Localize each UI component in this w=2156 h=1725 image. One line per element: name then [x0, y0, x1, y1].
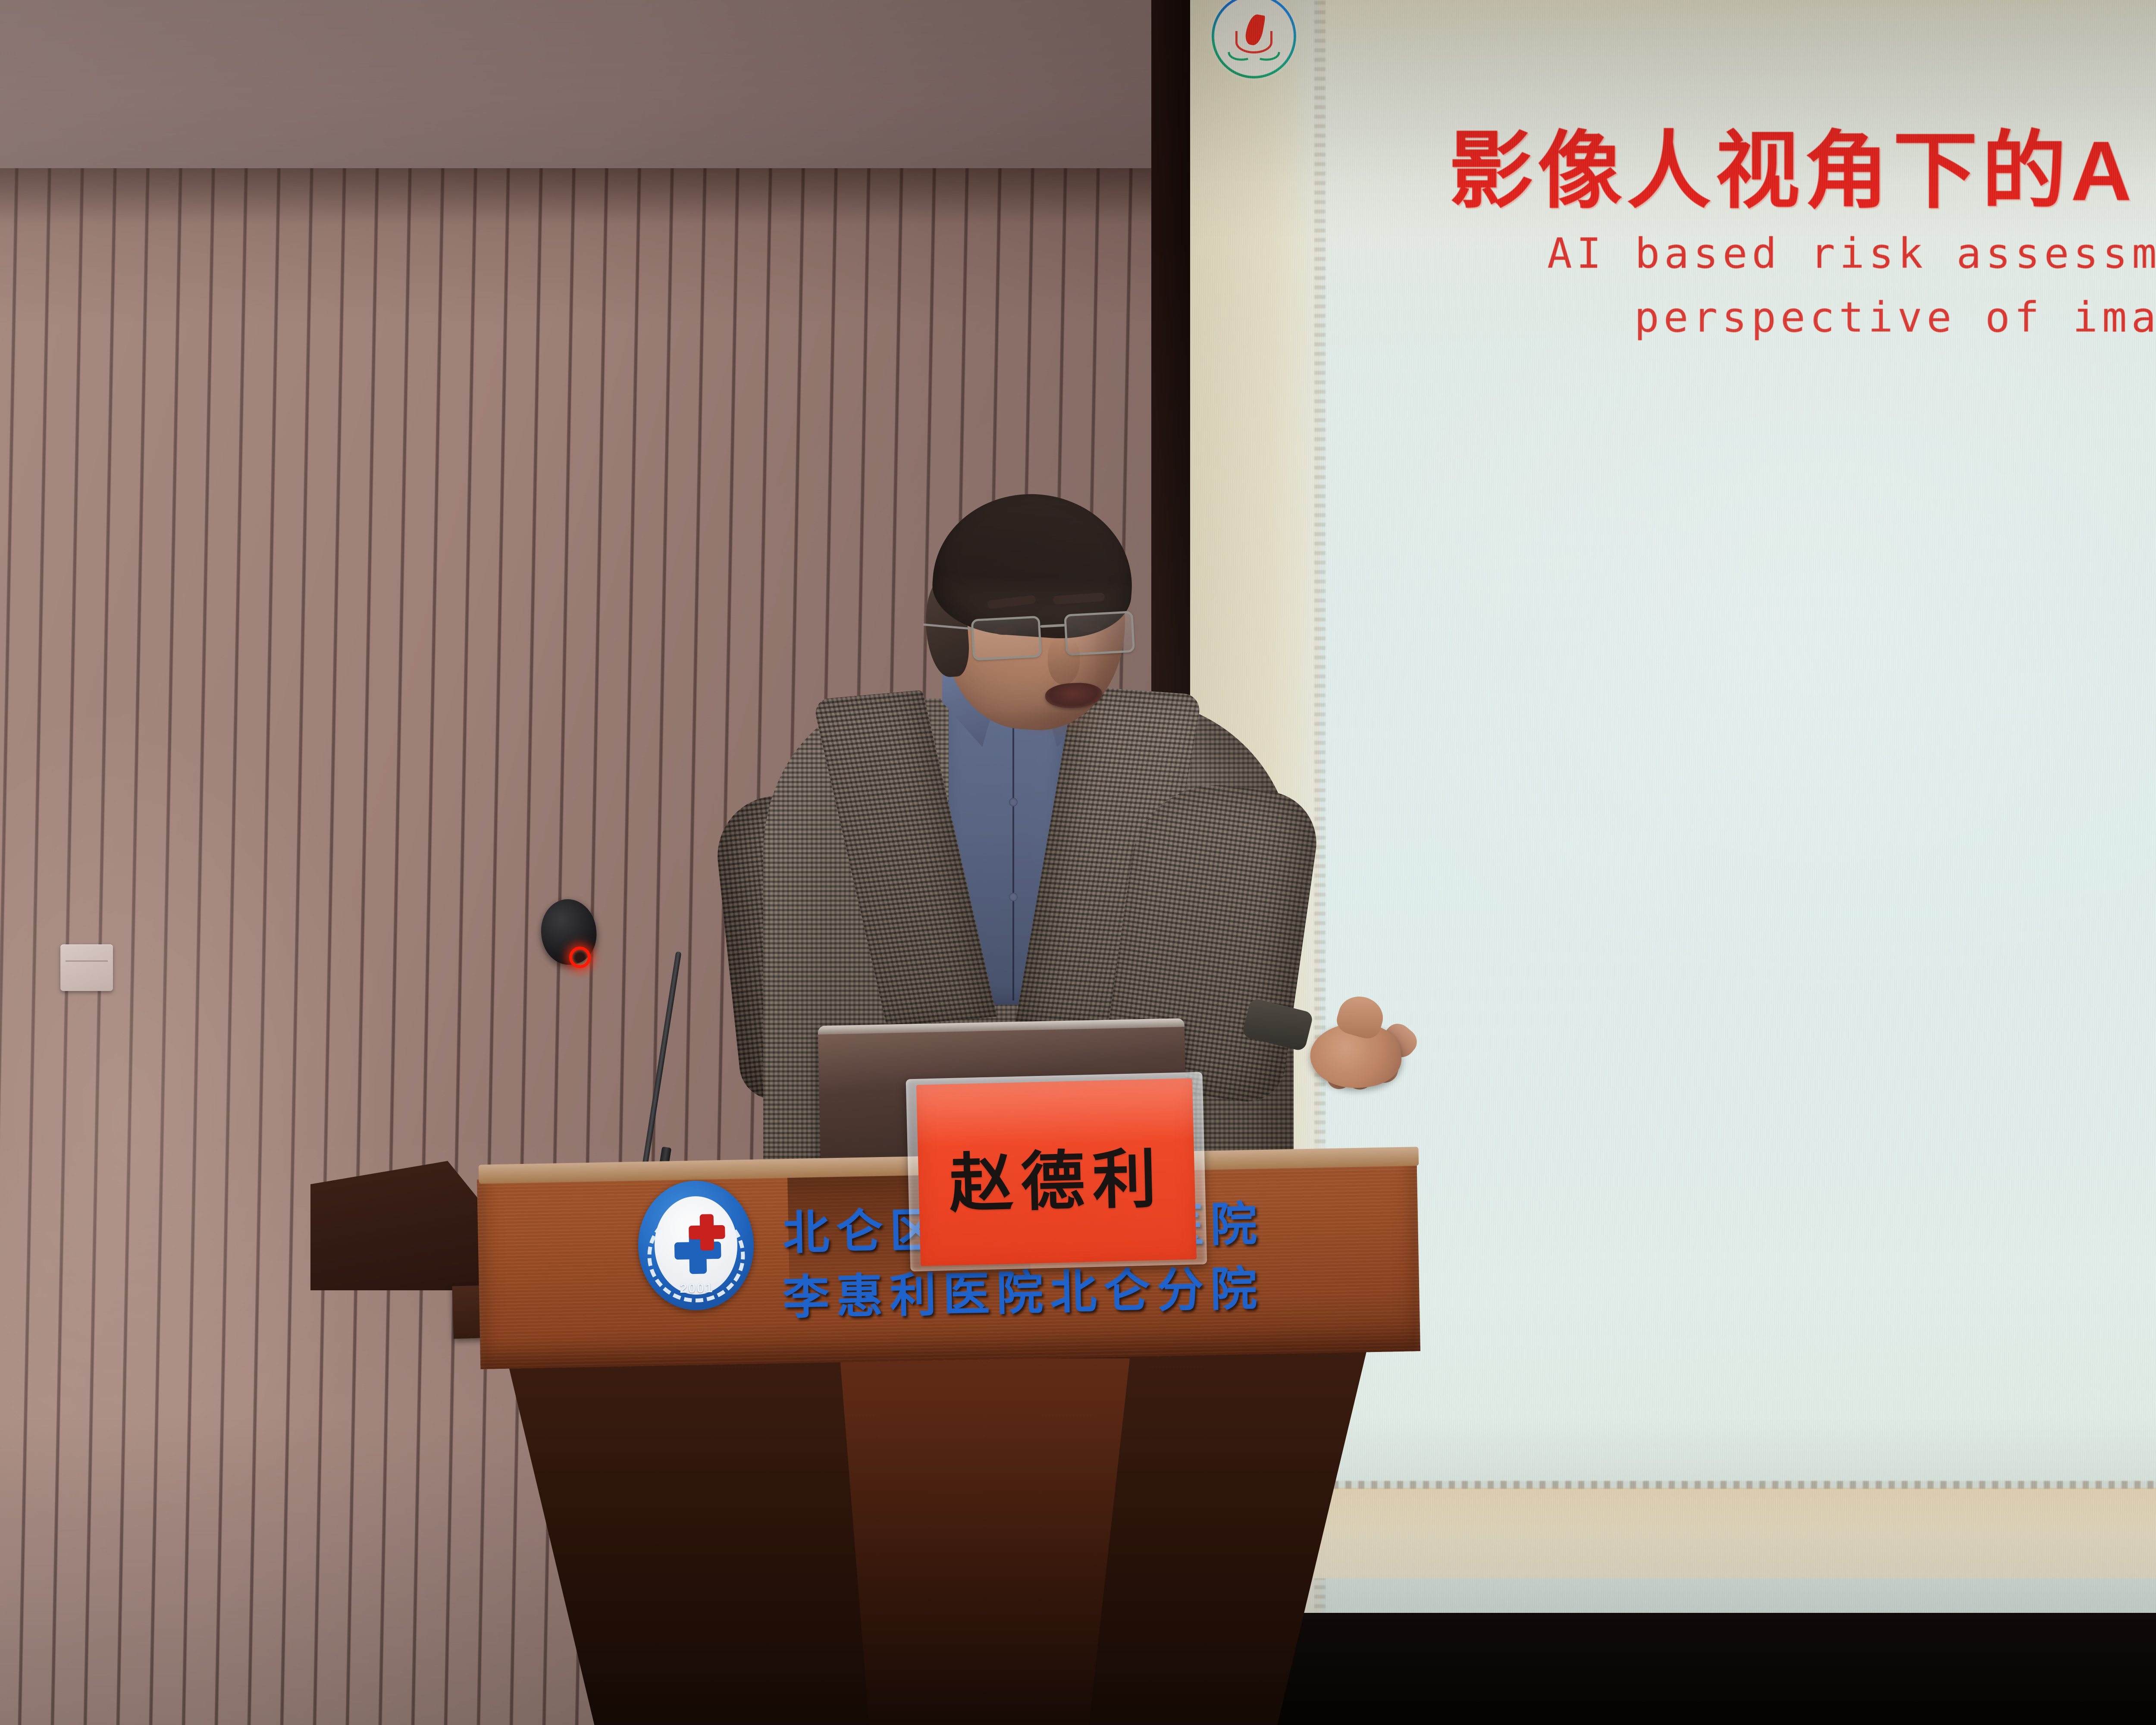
speaker-chin-shading	[1009, 703, 1108, 737]
eyeglasses-lens-left	[971, 616, 1042, 661]
eyeglasses-bridge	[1040, 624, 1065, 628]
slide-subtitle-line2: perspective of imag	[1634, 293, 2156, 342]
hospital-crest-icon: 2001	[637, 1179, 755, 1311]
wall-switch-plate[interactable]	[60, 944, 113, 991]
crest-established-year: 2001	[639, 1280, 755, 1297]
speaker-gesturing-hand	[1297, 990, 1423, 1097]
speaker-nameplate: 赵德利	[916, 1078, 1197, 1266]
shirt-button	[1009, 893, 1018, 901]
nameplate-speaker-name: 赵德利	[918, 1126, 1196, 1226]
shirt-placket	[1012, 703, 1014, 1000]
presentation-scene: 您正在共享 影像人视角下的A AI based risk assessment …	[0, 0, 2156, 1725]
podium: 2001 北仑区第二人民医院 李惠利医院北仑分院	[310, 1156, 1501, 1725]
wall-upper-band	[0, 0, 1190, 181]
podium-lower-highlight	[828, 1358, 1130, 1725]
shirt-button	[1009, 798, 1018, 806]
crest-cross-red-icon	[689, 1214, 726, 1251]
speaker-nose	[1048, 638, 1080, 685]
podium-left-side-panel	[310, 1161, 496, 1290]
slide-title-chinese: 影像人视角下的A	[1449, 103, 2136, 225]
slide-subtitle-line1: AI based risk assessment of	[1547, 229, 2156, 278]
